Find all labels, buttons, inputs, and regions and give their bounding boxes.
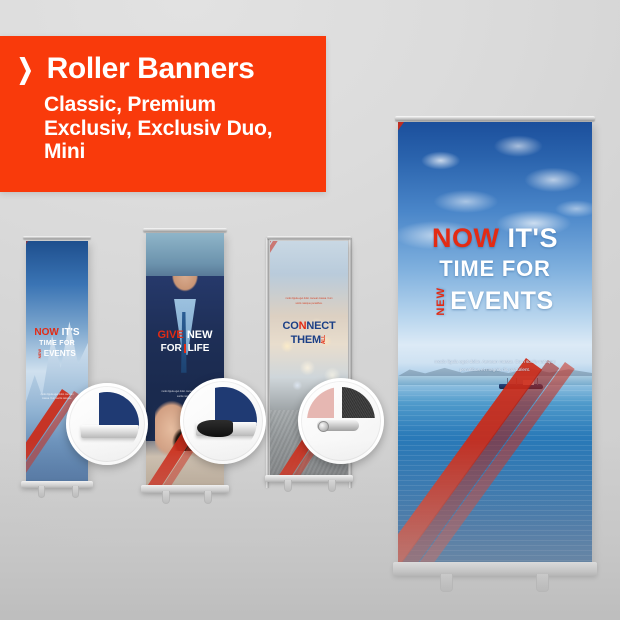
banner-top-rail bbox=[267, 236, 351, 239]
banner-headline-classic: NOW IT'S TIME FOR NEW EVENTS bbox=[26, 328, 88, 358]
banner-body-text-premium: modo ligula eget dolor. Aenean massa. Cu… bbox=[433, 358, 557, 373]
magnifier-foot-detail[interactable] bbox=[180, 378, 266, 464]
headline-new-vertical: NEW bbox=[436, 287, 447, 316]
banner-foot-right bbox=[204, 491, 212, 504]
banner-body-text-classic: modo ligula eget dolor. Aenean massa. Cu… bbox=[37, 393, 77, 402]
banner-foot-left bbox=[284, 480, 292, 492]
banner-headline-exclusiv: GIVE NEW FOR LIFE bbox=[146, 330, 224, 354]
headline-nect: NECT bbox=[306, 320, 335, 332]
banner-base-cassette bbox=[393, 562, 597, 576]
magnifier-content bbox=[75, 392, 139, 456]
banner-foot-left bbox=[38, 486, 45, 498]
headline-co: CO bbox=[282, 320, 298, 332]
banner-premium[interactable]: NOW IT'S TIME FOR NEW EVENTS modo ligula… bbox=[398, 116, 592, 592]
headline-events: EVENTS bbox=[44, 349, 76, 358]
header-banner: ❯ Roller Banners Classic, PremiumExclusi… bbox=[0, 36, 326, 192]
magnifier-content bbox=[189, 387, 257, 455]
red-tick-mark bbox=[184, 344, 186, 353]
headline-time-for: TIME FOR bbox=[398, 256, 592, 282]
banner-body-text-duo: modo ligula eget dolor. Aenean massa. Cu… bbox=[284, 297, 334, 306]
banner-foot-right bbox=[72, 486, 79, 498]
banner-foot-left bbox=[162, 491, 170, 504]
cargo-ship-icon bbox=[499, 376, 543, 389]
banner-graphic-premium: NOW IT'S TIME FOR NEW EVENTS modo ligula… bbox=[398, 122, 592, 568]
banner-top-rail bbox=[23, 236, 91, 239]
product-scene: NOW IT'S TIME FOR NEW EVENTS modo ligula… bbox=[0, 0, 620, 620]
headline-events: EVENTS bbox=[450, 287, 554, 316]
banner-classic[interactable]: NOW IT'S TIME FOR NEW EVENTS modo ligula… bbox=[26, 236, 88, 498]
page-subtitle: Classic, PremiumExclusiv, Exclusiv Duo,M… bbox=[0, 84, 326, 164]
headline-life: LIFE bbox=[188, 343, 210, 354]
banner-foot-right bbox=[536, 574, 549, 592]
banner-headline-duo: CONNECT THEM ALL bbox=[270, 321, 348, 346]
headline-now: NOW bbox=[432, 223, 499, 253]
banner-top-rail bbox=[395, 116, 595, 121]
banner-foot-right bbox=[328, 480, 336, 492]
support-pole-left bbox=[266, 238, 269, 488]
magnifier-content bbox=[307, 387, 375, 455]
banner-base-cassette bbox=[21, 481, 93, 488]
magnifier-pole-clamp-detail[interactable] bbox=[298, 378, 384, 464]
headline-all-vertical: ALL bbox=[322, 335, 327, 344]
headline-time-for: TIME FOR bbox=[26, 340, 88, 347]
headline-its: IT'S bbox=[508, 223, 558, 253]
banner-base-cassette bbox=[265, 475, 353, 482]
headline-for: FOR bbox=[161, 343, 182, 354]
headline-its: IT'S bbox=[62, 327, 80, 338]
banner-headline-premium: NOW IT'S TIME FOR NEW EVENTS bbox=[398, 225, 592, 317]
banner-base-cassette bbox=[141, 485, 229, 493]
headline-now: NOW bbox=[34, 327, 58, 338]
page-title: Roller Banners bbox=[47, 54, 255, 84]
headline-new-vertical: NEW bbox=[38, 349, 42, 358]
headline-give: GIVE bbox=[157, 329, 183, 341]
headline-them: THEM bbox=[291, 334, 321, 346]
sea-surface bbox=[398, 385, 592, 568]
banner-top-rail bbox=[143, 228, 227, 232]
banner-foot-left bbox=[440, 574, 453, 592]
chevron-right-icon: ❯ bbox=[17, 56, 33, 83]
headline-new: NEW bbox=[187, 329, 213, 341]
magnifier-base-detail[interactable] bbox=[66, 383, 148, 465]
